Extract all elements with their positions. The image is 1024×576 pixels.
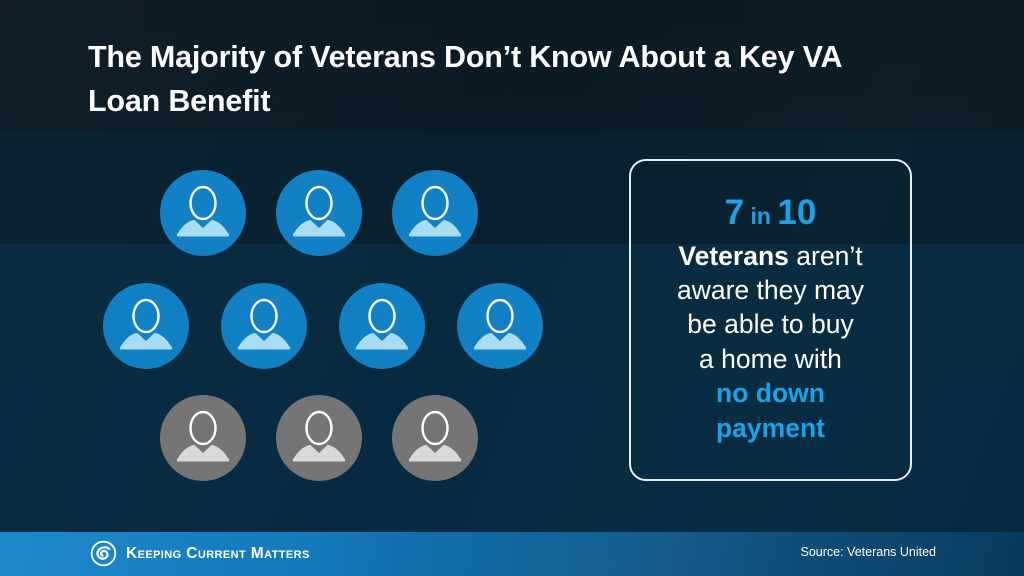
spiral-logo-icon — [90, 540, 117, 567]
source-attribution: Source: Veterans United — [801, 545, 937, 559]
brand-lockup: Keeping Current Matters — [90, 540, 310, 567]
person-icon-1 — [160, 170, 246, 256]
callout-line-3: be able to buy — [641, 307, 900, 341]
person-icon-3 — [392, 170, 478, 256]
brand-name: Keeping Current Matters — [126, 545, 310, 563]
infographic-slide: The Majority of Veterans Don’t Know Abou… — [0, 0, 1024, 576]
person-icon-4 — [103, 283, 189, 369]
person-icon-9 — [276, 395, 362, 481]
person-icon-10 — [392, 395, 478, 481]
callout-line-2: aware they may — [641, 273, 900, 307]
ratio-total: 10 — [777, 193, 816, 232]
person-icon-8 — [160, 395, 246, 481]
footer-bar: Keeping Current Matters Source: Veterans… — [0, 532, 1024, 576]
pictogram-chart — [0, 0, 620, 520]
callout-line-1-rest: aren’t — [796, 241, 862, 271]
callout-line-1: Veterans aren’t — [641, 239, 900, 273]
statistic-callout-box: 7 in 10 Veterans aren’t aware they may b… — [629, 159, 912, 481]
ratio-line: 7 in 10 — [641, 195, 900, 232]
callout-line-5: no down — [641, 376, 900, 410]
person-icon-6 — [339, 283, 425, 369]
person-icon-2 — [276, 170, 362, 256]
person-icon-7 — [457, 283, 543, 369]
ratio-number: 7 — [725, 193, 744, 232]
callout-line-4: a home with — [641, 342, 900, 376]
person-icon-5 — [221, 283, 307, 369]
ratio-connector: in — [751, 203, 771, 229]
callout-line-1-bold: Veterans — [678, 241, 789, 271]
callout-line-6: payment — [641, 411, 900, 445]
